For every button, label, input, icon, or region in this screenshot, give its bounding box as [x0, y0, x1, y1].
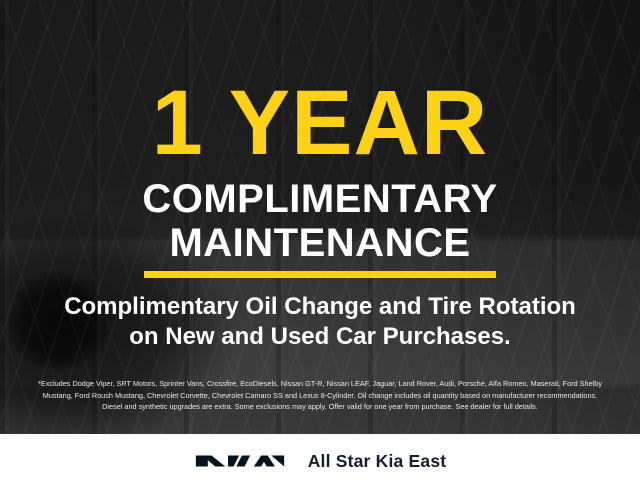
yellow-divider-bar — [144, 271, 496, 278]
headline-year: 1 YEAR — [0, 77, 640, 169]
promotional-banner: 1 YEAR COMPLIMENTARY MAINTENANCE Complim… — [0, 0, 640, 488]
headline-maintenance: MAINTENANCE — [0, 222, 640, 264]
banner-content: 1 YEAR COMPLIMENTARY MAINTENANCE Complim… — [0, 0, 640, 434]
hero-photo-area: 1 YEAR COMPLIMENTARY MAINTENANCE Complim… — [0, 0, 640, 434]
footer-bar: All Star Kia East — [0, 434, 640, 488]
disclaimer-text: *Excludes Dodge Viper, SRT Motors, Sprin… — [14, 378, 626, 413]
offer-description-line-1: Complimentary Oil Change and Tire Rotati… — [0, 292, 640, 322]
disclaimer-line-1: *Excludes Dodge Viper, SRT Motors, Sprin… — [14, 378, 626, 390]
offer-description-line-2: on New and Used Car Purchases. — [0, 322, 640, 352]
dealer-name: All Star Kia East — [308, 451, 447, 472]
headline-complimentary: COMPLIMENTARY — [0, 178, 640, 220]
disclaimer-line-2: Mustang, Ford Roush Mustang, Chevrolet C… — [14, 390, 626, 402]
kia-logo — [194, 449, 286, 473]
disclaimer-line-3: Diesel and synthetic upgrades are extra.… — [14, 401, 626, 413]
